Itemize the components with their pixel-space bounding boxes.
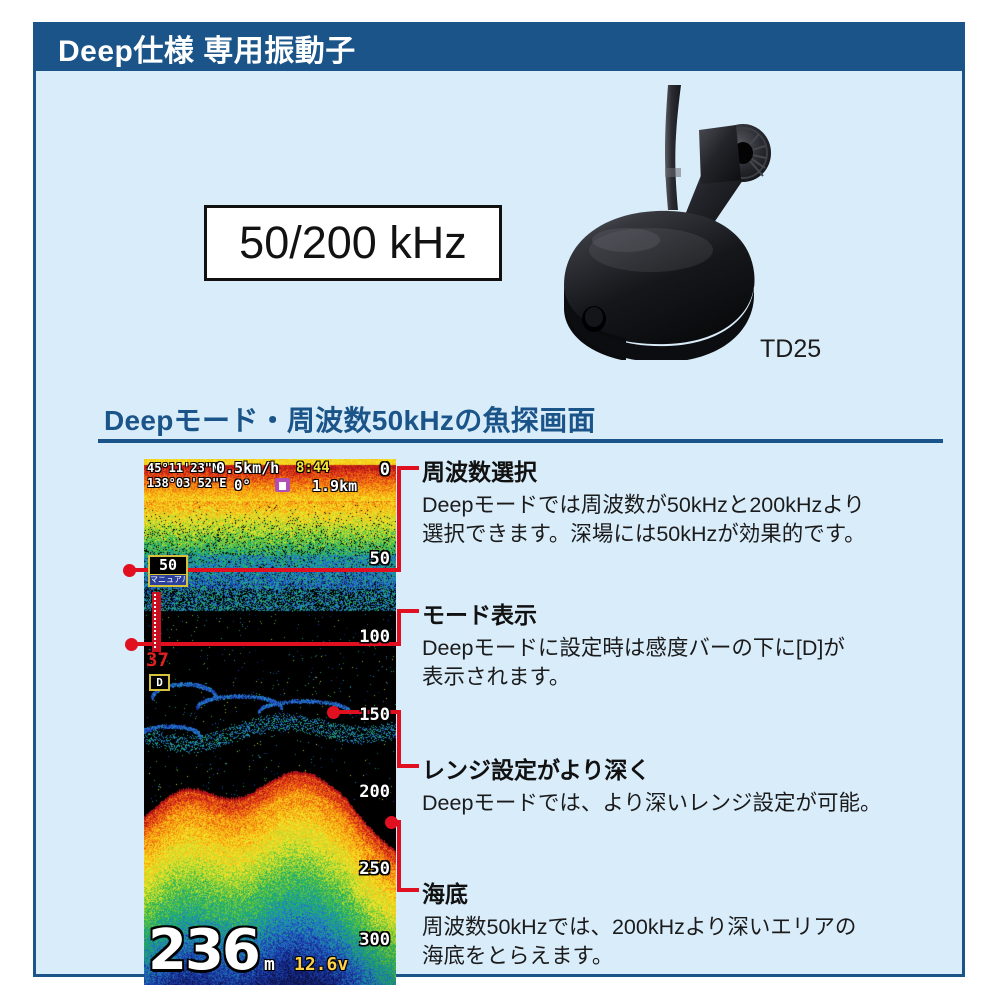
frequency-spec-text: 50/200 kHz: [239, 217, 467, 269]
depth-readout-unit: m: [264, 954, 275, 975]
sonar-distance: 1.9km: [312, 479, 357, 494]
connector-line-2-v: [397, 609, 401, 646]
section-heading: Deepモード・周波数50kHzの魚探画面: [104, 399, 596, 439]
callout-1-body: Deepモードでは周波数が50kHzと200kHzより 選択できます。深場には5…: [422, 491, 982, 548]
callout-2-body: Deepモードに設定時は感度バーの下に[D]が 表示されます。: [422, 634, 982, 691]
connector-line-3-tip: [397, 764, 419, 768]
voltage-readout: 12.6v: [294, 954, 348, 975]
product-card: Deep仕様 専用振動子: [33, 22, 965, 977]
connector-line-2-tip: [397, 609, 419, 613]
sensitivity-bar[interactable]: [152, 592, 161, 652]
section-divider: [98, 439, 943, 443]
depth-scale-200: 200: [359, 784, 390, 801]
callout-1-title: 周波数選択: [422, 453, 982, 487]
sonar-speed: 0.5km/h: [216, 461, 279, 476]
connector-line-1-v: [397, 466, 401, 572]
callout-3-body: Deepモードでは、より深いレンジ設定が可能。: [422, 789, 982, 818]
depth-scale-300: 300: [359, 932, 390, 949]
sonar-coord-longitude: 138°03'52"E: [147, 477, 226, 489]
callout-mode-display: モード表示 Deepモードに設定時は感度バーの下に[D]が 表示されます。: [422, 596, 982, 691]
sonar-coord-latitude: 45°11'23"N: [147, 462, 219, 474]
sensitivity-value: 37: [146, 651, 169, 670]
deep-mode-badge: D: [149, 674, 170, 691]
depth-scale-50: 50: [370, 551, 390, 568]
sonar-heading: 0°: [234, 479, 251, 493]
card-header: Deep仕様 専用振動子: [36, 25, 962, 71]
depth-readout: 236: [148, 923, 259, 979]
callout-seabed: 海底 周波数50kHzでは、200kHzより深いエリアの 海底をとらえます。: [422, 875, 982, 970]
frequency-badge-value: 50: [150, 557, 186, 574]
page-root: Deep仕様 専用振動子: [0, 0, 1000, 1000]
transducer-illustration: [531, 80, 861, 360]
callout-3-title: レンジ設定がより深く: [422, 751, 982, 785]
transducer-model-label: TD25: [760, 335, 821, 364]
callout-frequency-selection: 周波数選択 Deepモードでは周波数が50kHzと200kHzより 選択できます…: [422, 453, 982, 548]
connector-line-1-tip: [397, 466, 419, 470]
sonar-screen: 45°11'23"N 138°03'52"E 0.5km/h 8:44 0° 1…: [144, 459, 396, 985]
depth-scale-100: 100: [359, 629, 390, 646]
callout-deeper-range: レンジ設定がより深く Deepモードでは、より深いレンジ設定が可能。: [422, 751, 982, 818]
depth-scale-150: 150: [359, 707, 390, 724]
callout-4-body: 周波数50kHzでは、200kHzより深いエリアの 海底をとらえます。: [422, 913, 982, 970]
frequency-badge[interactable]: 50 マニュアル: [148, 555, 188, 587]
connector-line-4-v: [397, 820, 401, 892]
home-icon: [275, 478, 290, 492]
connector-line-3-v: [397, 710, 401, 768]
depth-scale-250: 250: [359, 861, 390, 878]
connector-line-4-tip: [397, 888, 419, 892]
frequency-spec-box: 50/200 kHz: [204, 205, 502, 281]
page-title: Deep仕様 専用振動子: [58, 26, 356, 70]
frequency-badge-mode: マニュアル: [150, 574, 186, 585]
callout-2-title: モード表示: [422, 596, 982, 630]
depth-scale-0: 0: [380, 462, 390, 479]
callout-4-title: 海底: [422, 875, 982, 909]
sonar-time: 8:44: [296, 461, 330, 475]
